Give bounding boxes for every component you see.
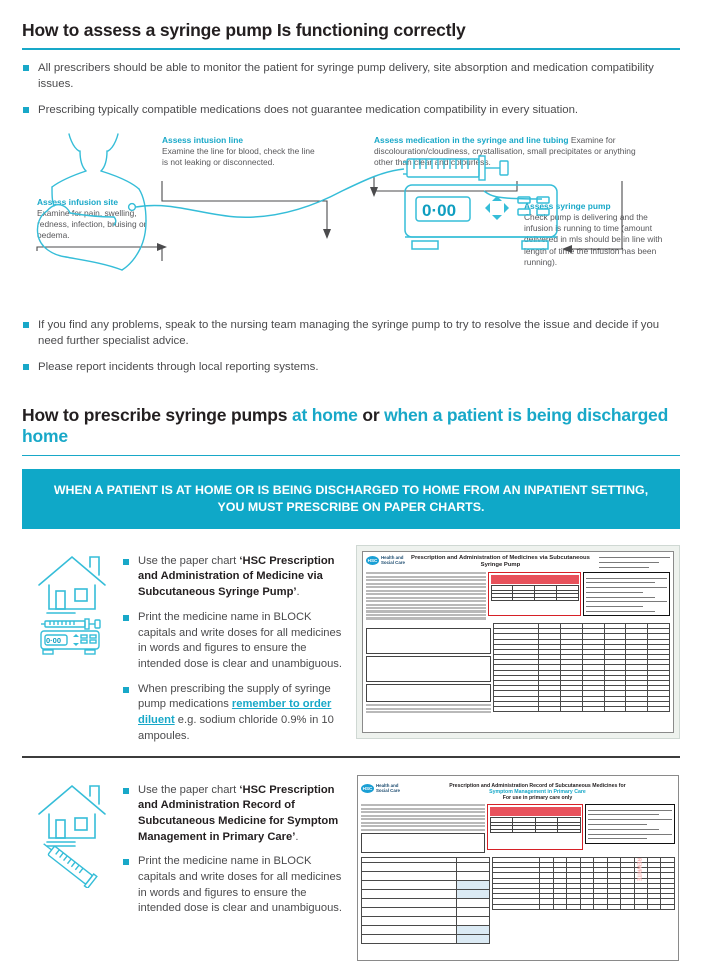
list-item: All prescribers should be able to monito… [22, 60, 680, 92]
section-divider [22, 756, 680, 757]
block2-bullets: Use the paper chart ‘HSC Prescription an… [122, 783, 344, 917]
hsc-logo: HSC Health and Social Care [361, 783, 400, 794]
paper-chart-block-2: Use the paper chart ‘HSC Prescription an… [22, 772, 680, 962]
home-and-pump-icon: 0·00 [33, 549, 111, 659]
list-item: Use the paper chart ‘HSC Prescription an… [122, 554, 344, 601]
hsc-logo-line2: Social Care [381, 560, 405, 566]
bullet-tail: . [297, 586, 300, 598]
syringe-icon [403, 156, 508, 180]
chart-1-medicine-panel [366, 623, 491, 715]
chart-1-patient-fields [596, 555, 670, 569]
syringe-pump-assessment-diagram: Assess intusion line Examine the line fo… [22, 129, 680, 307]
block2-text-column: Use the paper chart ‘HSC Prescription an… [122, 772, 344, 917]
bullet-tail: . [295, 831, 298, 843]
block2-thumbnail-column: HSC Health and Social Care Prescription … [344, 772, 680, 962]
section1-title-rule [22, 48, 680, 50]
list-item: Prescribing typically compatible medicat… [22, 102, 680, 118]
hsc-badge: HSC [366, 556, 379, 565]
house-icon [39, 786, 105, 846]
section2-title-part1: How to prescribe syringe pumps [22, 405, 292, 425]
paper-chart-block-1: 0·00 Use the paper chart ‘HSC Prescripti… [22, 543, 680, 744]
chart-2-patient-details [585, 804, 675, 855]
block1-thumbnail-column: HSC Health and Social Care Prescription … [344, 543, 680, 739]
block1-icon-column: 0·00 [22, 543, 122, 664]
chart-1-title: Prescription and Administration of Medic… [405, 555, 596, 569]
bullet-text: Print the medicine name in BLOCK capital… [138, 611, 342, 670]
bullet-text: Print the medicine name in BLOCK capital… [138, 855, 342, 914]
chart-2-instructions [361, 804, 485, 855]
chart-1-administration-grid [493, 623, 670, 715]
document-page: How to assess a syringe pump Is function… [0, 20, 702, 936]
chart-1-patient-details [583, 572, 670, 621]
section2-title-highlight1: at home [292, 405, 358, 425]
list-item: Print the medicine name in BLOCK capital… [122, 610, 344, 673]
list-item: Please report incidents through local re… [22, 359, 680, 375]
chart-2-administration-grid: REWRITE [492, 857, 675, 944]
chart-2-allergy-box [487, 804, 583, 855]
chart-2-title: Prescription and Administration Record o… [400, 783, 675, 802]
list-item: When prescribing the supply of syringe p… [122, 682, 344, 745]
leader-syringe-pump [567, 181, 622, 249]
section1-title: How to assess a syringe pump Is function… [22, 20, 680, 41]
leader-medication-top [374, 177, 517, 191]
block1-text-column: Use the paper chart ‘HSC Prescription an… [122, 543, 344, 744]
block2-icon-column [22, 772, 122, 893]
chart-2-title-line3: For use in primary care only [400, 795, 675, 801]
patient-figure [37, 134, 146, 270]
section2-title-rule [22, 455, 680, 457]
house-icon [39, 557, 105, 613]
list-item: If you find any problems, speak to the n… [22, 317, 680, 349]
section2-title: How to prescribe syringe pumps at home o… [22, 405, 680, 448]
paper-charts-banner: WHEN A PATIENT IS AT HOME OR IS BEING DI… [22, 469, 680, 528]
list-item: Print the medicine name in BLOCK capital… [122, 854, 344, 917]
list-item: Use the paper chart ‘HSC Prescription an… [122, 783, 344, 846]
infusion-tubing [136, 169, 404, 217]
section2-title-part2: or [358, 405, 384, 425]
leader-infusion-site [37, 247, 162, 251]
bullet-text: Use the paper chart [138, 555, 239, 567]
hsc-logo: HSC Health and Social Care [366, 555, 405, 566]
chart-thumbnail-1[interactable]: HSC Health and Social Care Prescription … [356, 545, 680, 739]
hsc-badge: HSC [361, 784, 374, 793]
chart-1-allergy-box [488, 572, 581, 621]
diagram-artwork: 0·00 [22, 129, 680, 307]
home-and-syringe-icon [33, 778, 111, 888]
pump-display-value: 0·00 [46, 636, 61, 645]
section1-bottom-bullets: If you find any problems, speak to the n… [22, 317, 680, 376]
chart-thumbnail-2[interactable]: HSC Health and Social Care Prescription … [356, 774, 680, 962]
block1-bullets: Use the paper chart ‘HSC Prescription an… [122, 554, 344, 744]
chart-2-medicine-panel [361, 857, 490, 944]
chart-1-instructions [366, 572, 486, 621]
bullet-text: Use the paper chart [138, 784, 239, 796]
section1-top-bullets: All prescribers should be able to monito… [22, 60, 680, 119]
pump-display-value: 0·00 [422, 201, 456, 220]
hsc-logo-line2: Social Care [376, 788, 400, 794]
